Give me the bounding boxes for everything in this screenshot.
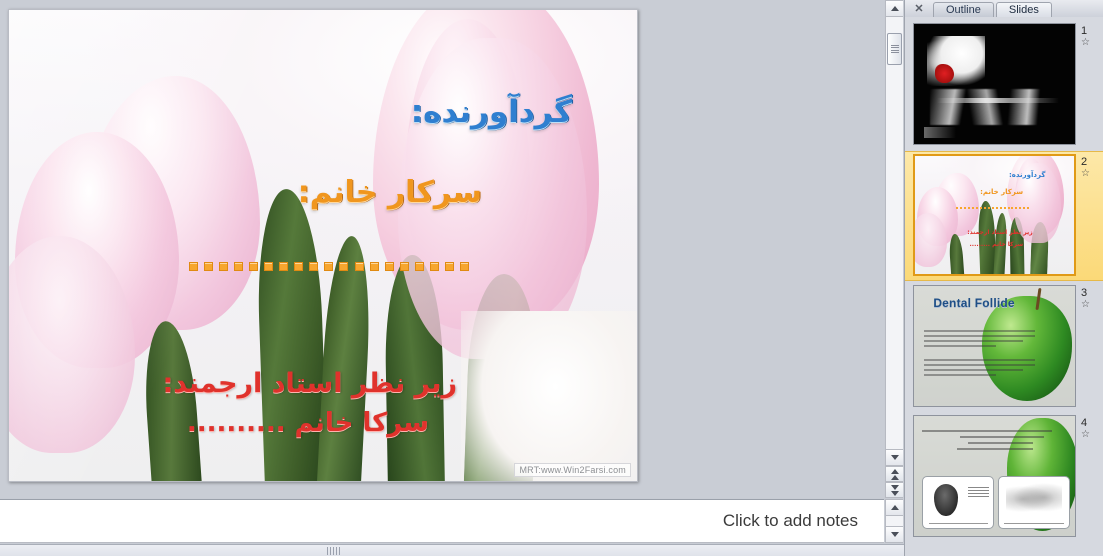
thumbnail-meta-3: 3 ☆ [1076, 285, 1102, 311]
scroll-track[interactable] [886, 17, 903, 449]
slide-number-1: 1 [1081, 25, 1102, 37]
divider-dot [309, 262, 318, 271]
divider-dot [1023, 207, 1025, 209]
red-flower [935, 64, 954, 83]
bismillah-slide-art [914, 24, 1075, 144]
slide-thumbnail-2[interactable]: گردآورنده: سرکار خانم: زیر نظر استاد ارج… [905, 151, 1103, 281]
arrow-up-icon [891, 6, 899, 11]
divider-dot [189, 262, 198, 271]
notes-scroll-down-button[interactable] [886, 526, 903, 543]
divider-dot [1011, 207, 1013, 209]
transition-star-icon-2[interactable]: ☆ [1081, 168, 1102, 180]
transition-star-icon-4[interactable]: ☆ [1081, 429, 1102, 441]
thumbnail-image-2[interactable]: گردآورنده: سرکار خانم: زیر نظر استاد ارج… [913, 154, 1076, 276]
slide-heading-author[interactable]: سرکار خانم: [298, 175, 482, 210]
horizontal-scroll-thumb[interactable] [322, 546, 344, 556]
divider-dot [249, 262, 258, 271]
divider-dot [204, 262, 213, 271]
divider-dot [324, 262, 333, 271]
slide-canvas[interactable]: گردآورنده: سرکار خانم: زیر نظر استاد ارج… [8, 9, 638, 482]
thumb3-title: Dental Follide [933, 296, 1014, 310]
panel-tab-bar: ✕ Outline Slides [905, 0, 1103, 17]
slide-thumbnail-1[interactable]: 1 ☆ [905, 21, 1103, 149]
thumbnail-meta-1: 1 ☆ [1076, 23, 1102, 49]
tooth-development-diagram [1006, 483, 1062, 514]
tab-outline[interactable]: Outline [933, 2, 994, 17]
slide-vertical-scrollbar[interactable] [885, 0, 903, 498]
arrow-down-icon [891, 532, 899, 537]
divider-dot [1004, 207, 1006, 209]
slide-thumbnail-list[interactable]: 1 ☆ [905, 18, 1103, 556]
thumbnail-image-1[interactable] [913, 23, 1076, 145]
thumbnail-meta-4: 4 ☆ [1076, 415, 1102, 441]
divider-dot [1027, 207, 1029, 209]
divider-dot [294, 262, 303, 271]
divider-dot [234, 262, 243, 271]
divider-dot [988, 207, 990, 209]
close-panel-icon[interactable]: ✕ [905, 0, 933, 17]
calligraphy [930, 89, 1065, 125]
divider-dot [964, 207, 966, 209]
slide-text-supervisor-name[interactable]: سرکا خانم .......... [187, 408, 429, 438]
divider-dot [956, 207, 958, 209]
thumbnail-image-3[interactable]: Dental Follide [913, 285, 1076, 407]
slide-thumbnail-4[interactable]: 4 ☆ [905, 413, 1103, 541]
thumb4-image-card-left [922, 476, 994, 529]
decorative-dot-divider [189, 262, 469, 271]
divider-dot [1019, 207, 1021, 209]
seed-diagram [934, 484, 958, 515]
slide-heading-compiler[interactable]: گردآورنده: [411, 94, 572, 130]
divider-dot [219, 262, 228, 271]
thumb3-body-lines [924, 327, 1040, 379]
thumb2-text-orange: سرکار خانم: [980, 188, 1023, 196]
scroll-down-button[interactable] [886, 449, 903, 466]
main-editing-area: گردآورنده: سرکار خانم: زیر نظر استاد ارج… [0, 0, 884, 498]
divider-dot [1015, 207, 1017, 209]
arrow-up-icon [891, 505, 899, 510]
divider-dot [430, 262, 439, 271]
calligraphy-underline [937, 98, 1059, 103]
watermark-label: MRT:www.Win2Farsi.com [514, 463, 631, 477]
divider-dot [980, 207, 982, 209]
divider-dot [445, 262, 454, 271]
card-caption-rule-right [1004, 523, 1063, 524]
double-arrow-up-icon [891, 469, 899, 480]
slide-thumbnail-3[interactable]: Dental Follide 3 ☆ [905, 283, 1103, 411]
signature-mark [924, 127, 956, 138]
divider-dot [996, 207, 998, 209]
divider-dot [972, 207, 974, 209]
scroll-up-button[interactable] [886, 0, 903, 17]
thumbnail-meta-2: 2 ☆ [1076, 154, 1102, 180]
apple-slide-art: Dental Follide [914, 286, 1075, 406]
divider-dot [370, 262, 379, 271]
tulip-slide-art: گردآورنده: سرکار خانم: زیر نظر استاد ارج… [915, 156, 1074, 274]
slide-text-layer: گردآورنده: سرکار خانم: زیر نظر استاد ارج… [9, 10, 637, 481]
divider-dot [1008, 207, 1010, 209]
divider-dot [960, 207, 962, 209]
notes-vertical-scrollbar[interactable] [885, 499, 903, 543]
divider-dot [415, 262, 424, 271]
transition-star-icon-3[interactable]: ☆ [1081, 299, 1102, 311]
next-slide-button[interactable] [886, 482, 903, 498]
notes-scroll-track[interactable] [886, 516, 903, 526]
previous-slide-button[interactable] [886, 466, 903, 482]
scroll-thumb[interactable] [887, 33, 902, 65]
notes-pane[interactable]: Click to add notes [0, 499, 884, 543]
divider-dot [1000, 207, 1002, 209]
diagrams-slide-art [914, 416, 1075, 536]
thumb2-text-red1: زیر نظر استاد ارجمند: [967, 229, 1032, 236]
thumb2-dot-divider [956, 207, 1029, 209]
slide-text-supervisor-label[interactable]: زیر نظر استاد ارجمند: [162, 368, 457, 399]
divider-dot [976, 207, 978, 209]
slide-number-3: 3 [1081, 287, 1102, 299]
divider-dot [264, 262, 273, 271]
slide-number-2: 2 [1081, 156, 1102, 168]
divider-dot [400, 262, 409, 271]
thumbnail-image-4[interactable] [913, 415, 1076, 537]
grip-icon [891, 43, 899, 55]
divider-dot [355, 262, 364, 271]
slide-number-4: 4 [1081, 417, 1102, 429]
double-arrow-down-icon [891, 485, 899, 496]
divider-dot [339, 262, 348, 271]
thumb2-text-red2: سرکا خانم ......... [970, 241, 1024, 248]
thumb2-text-blue: گردآورنده: [1009, 171, 1045, 179]
thumb4-image-card-right [998, 476, 1070, 529]
notes-placeholder-text: Click to add notes [723, 511, 858, 531]
notes-scroll-up-button[interactable] [886, 499, 903, 516]
divider-dot [385, 262, 394, 271]
divider-dot [279, 262, 288, 271]
seed-caption-lines [968, 485, 989, 499]
divider-dot [968, 207, 970, 209]
slides-panel: ✕ Outline Slides 1 ☆ [904, 0, 1103, 556]
divider-dot [460, 262, 469, 271]
transition-star-icon-1[interactable]: ☆ [1081, 37, 1102, 49]
tab-slides[interactable]: Slides [996, 2, 1052, 17]
divider-dot [992, 207, 994, 209]
card-caption-rule-left [929, 523, 988, 524]
divider-dot [984, 207, 986, 209]
arrow-down-icon [891, 455, 899, 460]
thumb4-body-lines [922, 426, 1057, 454]
